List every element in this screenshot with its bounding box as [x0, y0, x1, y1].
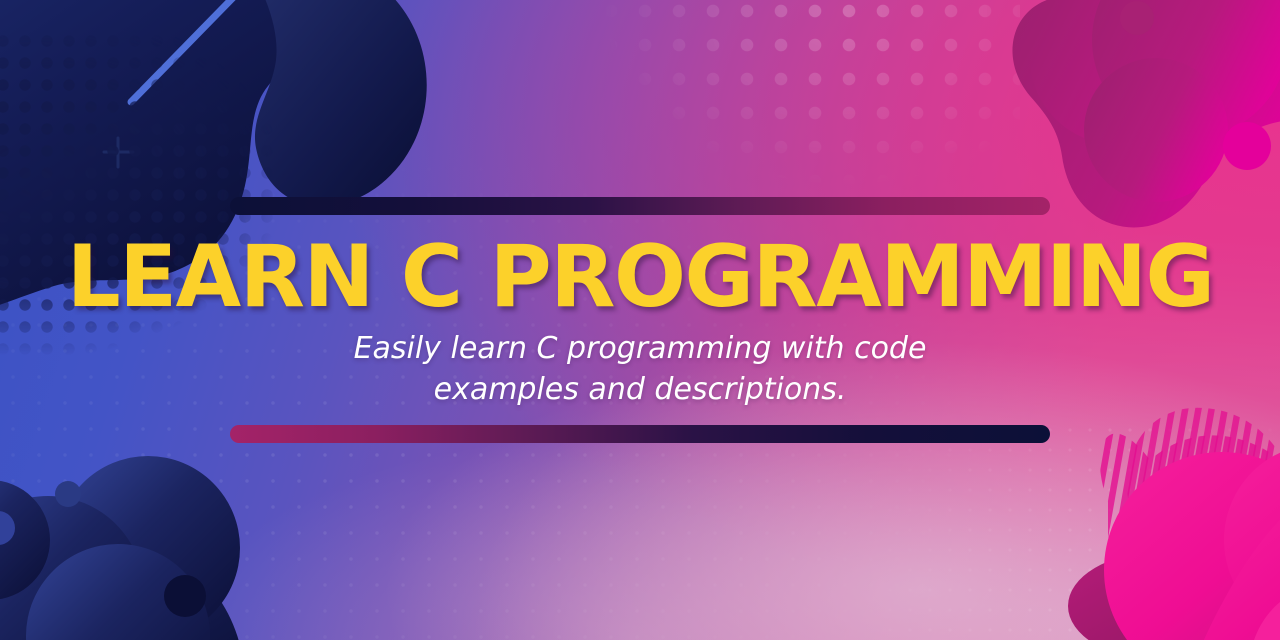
banner-subtitle: Easily learn C programming with code exa… — [280, 328, 1000, 411]
promo-banner: LEARN C PROGRAMMING Easily learn C progr… — [0, 0, 1280, 640]
divider-bottom — [230, 425, 1050, 443]
banner-content: LEARN C PROGRAMMING Easily learn C progr… — [0, 0, 1280, 640]
banner-title: LEARN C PROGRAMMING — [67, 235, 1214, 319]
divider-top — [230, 197, 1050, 215]
